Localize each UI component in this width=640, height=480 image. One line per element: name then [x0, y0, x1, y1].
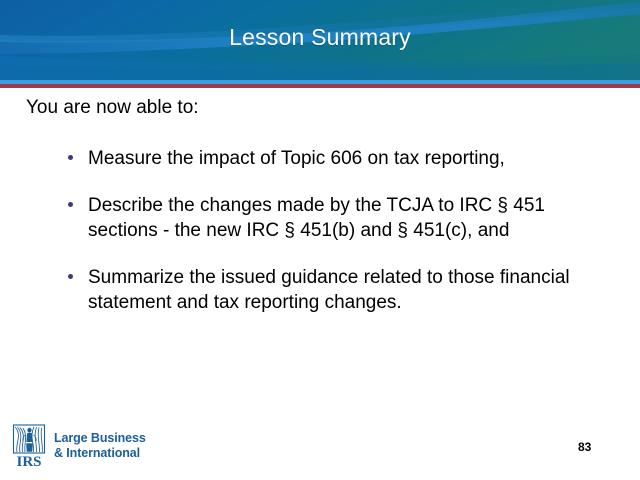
slide-canvas: Lesson Summary You are now able to: Meas…: [0, 0, 640, 480]
irs-lbi-logo: IRS Large Business & International: [12, 424, 146, 468]
irs-eagle-seal-icon: IRS: [12, 424, 48, 468]
intro-text: You are now able to:: [24, 96, 616, 120]
list-item-text: Summarize the issued guidance related to…: [88, 267, 570, 313]
divider-rule-red: [0, 84, 640, 88]
list-item: Measure the impact of Topic 606 on tax r…: [66, 146, 611, 171]
bullet-dot-icon: [68, 202, 73, 207]
irs-abbrev-text: IRS: [16, 454, 41, 468]
logo-wordmark-text: Large Business & International: [54, 431, 146, 461]
list-item: Describe the changes made by the TCJA to…: [66, 193, 611, 243]
list-item-text: Describe the changes made by the TCJA to…: [88, 195, 545, 241]
list-item: Summarize the issued guidance related to…: [66, 265, 611, 315]
page-title: Lesson Summary: [0, 24, 640, 51]
bullet-dot-icon: [68, 155, 73, 160]
list-item-text: Measure the impact of Topic 606 on tax r…: [88, 148, 505, 169]
slide-header-banner: Lesson Summary: [0, 0, 640, 80]
slide-body: You are now able to: Measure the impact …: [0, 96, 640, 315]
page-number: 83: [578, 440, 591, 454]
objectives-list: Measure the impact of Topic 606 on tax r…: [24, 146, 616, 315]
bullet-dot-icon: [68, 274, 73, 279]
